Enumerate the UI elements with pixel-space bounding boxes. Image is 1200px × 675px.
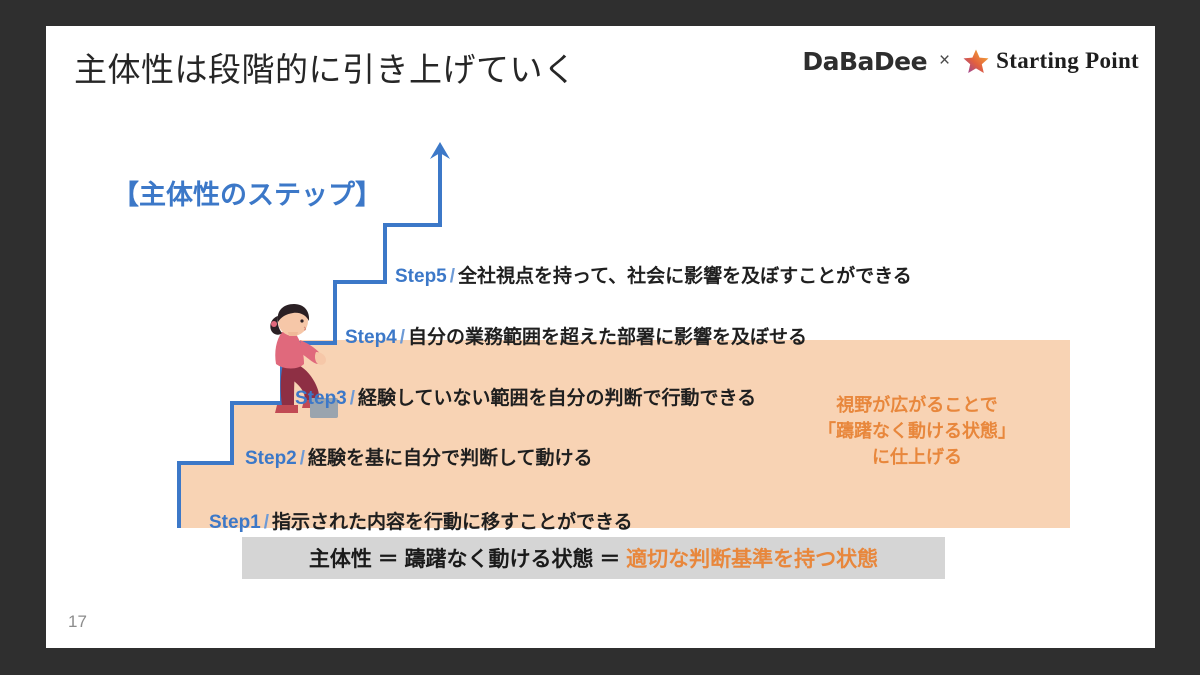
step-separator-1: / (261, 512, 272, 533)
step-label-5: Step5/全社視点を持って、社会に影響を及ぼすことができる (395, 261, 912, 288)
cross-icon: × (939, 50, 950, 72)
step-text-5: 全社視点を持って、社会に影響を及ぼすことができる (458, 266, 912, 287)
summary-text-primary: 主体性 ＝ 躊躇なく動ける状態 ＝ (309, 548, 626, 571)
page-number: 17 (68, 612, 87, 632)
side-note-callout: 視野が広がることで 「躊躇なく動ける状態」 に仕上げる (806, 392, 1028, 470)
step-text-2: 経験を基に自分で判断して動ける (308, 448, 592, 469)
up-arrow-icon (430, 142, 450, 159)
step-number-4: Step4 (345, 327, 397, 348)
steps-section-heading: 【主体性のステップ】 (112, 173, 382, 212)
step-label-2: Step2/経験を基に自分で判断して動ける (245, 443, 592, 470)
dabadee-logo: DaBaDee (802, 47, 927, 76)
step-text-3: 経験していない範囲を自分の判断で行動できる (358, 388, 756, 409)
step-text-4: 自分の業務範囲を超えた部署に影響を及ぼせる (408, 327, 807, 348)
summary-banner: 主体性 ＝ 躊躇なく動ける状態 ＝ 適切な判断基準を持つ状態 (242, 537, 945, 579)
side-note-line-3: に仕上げる (806, 444, 1028, 470)
step-label-1: Step1/指示された内容を行動に移すことができる (209, 507, 633, 534)
step-separator-5: / (447, 266, 458, 287)
step-number-5: Step5 (395, 266, 447, 287)
logo-lockup: DaBaDee × Starting Point (802, 44, 1139, 78)
step-label-3: Step3/経験していない範囲を自分の判断で行動できる (295, 383, 756, 410)
step-number-1: Step1 (209, 512, 261, 533)
step-number-3: Step3 (295, 388, 347, 409)
step-label-4: Step4/自分の業務範囲を超えた部署に影響を及ぼせる (345, 322, 807, 349)
starting-point-logo: Starting Point (962, 48, 1139, 75)
summary-text: 主体性 ＝ 躊躇なく動ける状態 ＝ 適切な判断基準を持つ状態 (309, 543, 878, 573)
step-separator-4: / (397, 327, 408, 348)
step-separator-3: / (347, 388, 358, 409)
side-note-line-2: 「躊躇なく動ける状態」 (806, 418, 1028, 444)
summary-text-accent: 適切な判断基準を持つ状態 (626, 548, 878, 571)
woman-climbing-stairs-illustration (260, 302, 352, 434)
starting-point-wordmark: Starting Point (996, 48, 1139, 74)
screen-canvas: 主体性は段階的に引き上げていく DaBaDee × Starting Point (0, 0, 1200, 675)
presentation-slide: 主体性は段階的に引き上げていく DaBaDee × Starting Point (46, 26, 1155, 648)
side-note-line-1: 視野が広がることで (806, 392, 1028, 418)
page-title: 主体性は段階的に引き上げていく (74, 43, 577, 91)
step-text-1: 指示された内容を行動に移すことができる (272, 512, 633, 533)
step-separator-2: / (297, 448, 308, 469)
step-number-2: Step2 (245, 448, 297, 469)
star-icon (962, 48, 990, 75)
